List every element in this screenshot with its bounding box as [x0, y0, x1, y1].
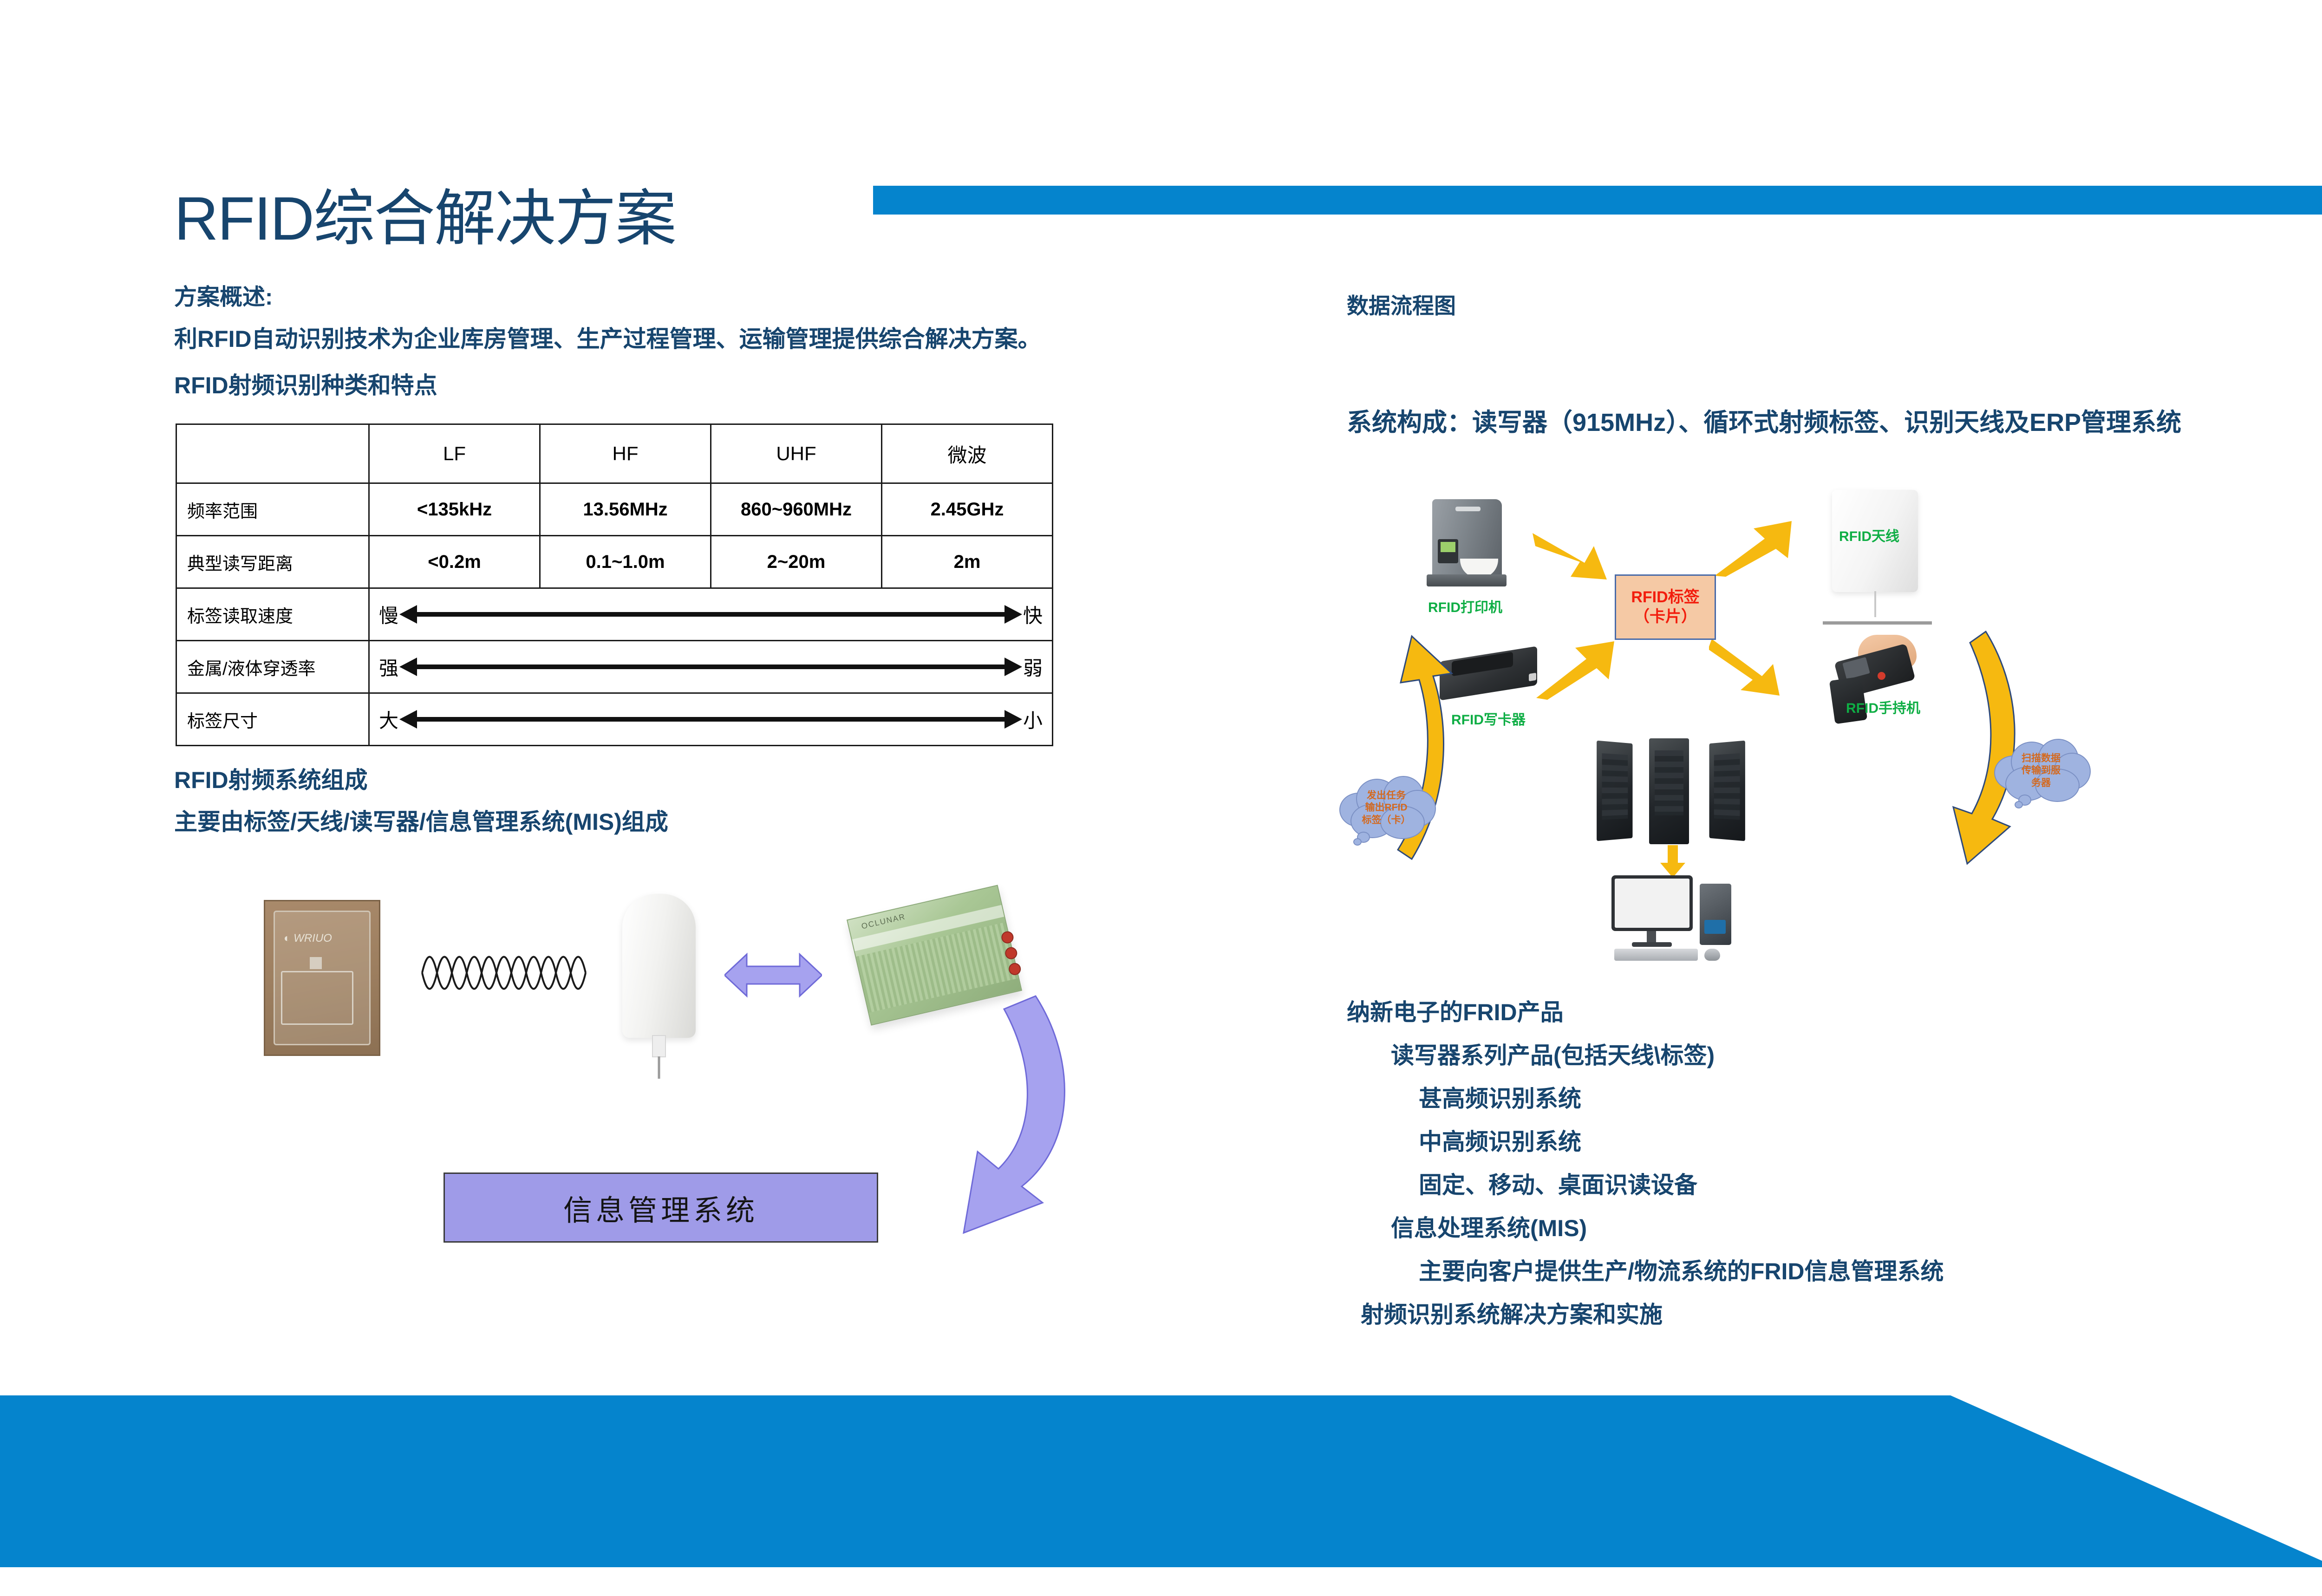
arrow-head-left-icon — [399, 605, 417, 624]
cloud-tail — [2015, 801, 2023, 808]
arrow-head-left-icon — [399, 710, 417, 729]
rfid-tag-box: RFID标签 （卡片） — [1615, 574, 1716, 640]
workstation-photo — [1611, 875, 1741, 961]
system-compose-heading: RFID射频系统组成 — [174, 762, 368, 795]
arrow-line — [415, 717, 1006, 722]
rf-wave-icon — [420, 938, 597, 1008]
monitor — [1611, 875, 1693, 931]
cell-frequency-microwave: 2.45GHz — [882, 483, 1053, 536]
arrow-left-label-tag-size: 大 — [379, 705, 398, 734]
arrow-cell-penetration: 强 弱 — [369, 641, 1053, 693]
printer-screen — [1441, 542, 1455, 552]
server-rack-photo — [1595, 738, 1748, 845]
printer-slot — [1455, 507, 1481, 511]
tag-chip — [310, 957, 322, 969]
keyboard — [1614, 949, 1698, 961]
printer-label: RFID打印机 — [1428, 596, 1502, 616]
panel-antenna-photo — [622, 894, 696, 1038]
arrow-line — [415, 612, 1006, 617]
cell-distance-lf: <0.2m — [369, 536, 540, 588]
row-label-penetration: 金属/液体穿透率 — [176, 641, 369, 693]
mis-box: 信息管理系统 — [444, 1173, 878, 1243]
col-header-hf: HF — [540, 424, 711, 483]
bullet-item: 纳新电子的FRID产品 — [1347, 994, 1564, 1027]
page-title: RFID综合解决方案 — [174, 188, 676, 249]
col-header-lf: LF — [369, 424, 540, 483]
arrow-tag-to-antenna-icon — [1709, 520, 1795, 578]
overview-label: 方案概述: — [174, 279, 273, 312]
antenna-cable — [658, 1056, 660, 1079]
arrow-line — [415, 664, 1006, 669]
col-header-uhf: UHF — [711, 424, 882, 483]
bottom-accent-band — [0, 1395, 2322, 1567]
bullet-item: 信息处理系统(MIS) — [1391, 1210, 1587, 1243]
row-label-distance: 典型读写距离 — [176, 536, 369, 588]
col-header-microwave: 微波 — [882, 424, 1053, 483]
server-rack-left — [1597, 741, 1632, 841]
arrow-right-label-read-speed: 快 — [1023, 600, 1043, 629]
arrow-server-to-pc-icon — [1660, 845, 1685, 878]
cloud-tail — [1353, 838, 1362, 846]
system-composition-text: 系统构成：读写器（915MHz）、循环式射频标签、识别天线及ERP管理系统 — [1347, 402, 2181, 438]
bullet-item: 读写器系列产品(包括天线\标签) — [1391, 1037, 1715, 1070]
arrow-head-right-icon — [1004, 605, 1022, 624]
tag-antenna-coil — [281, 971, 353, 1025]
row-label-frequency: 频率范围 — [176, 483, 369, 536]
arrow-printer-to-tag-icon — [1533, 529, 1618, 583]
table-row: 标签读取速度 慢 快 — [176, 588, 1053, 641]
cloud-callout-right: 扫描数据 传输到服 务器 — [1992, 736, 2090, 806]
slide-canvas: RFID综合解决方案 方案概述: 利RFID自动识别技术为企业库房管理、生产过程… — [0, 0, 2322, 1596]
mouse — [1704, 949, 1720, 961]
table-row: 金属/液体穿透率 强 弱 — [176, 641, 1053, 693]
arrow-up-to-tag-icon — [1533, 638, 1618, 701]
arrow-tag-to-handheld-icon — [1709, 635, 1795, 698]
tag-box-line2: （卡片） — [1634, 607, 1697, 626]
cell-frequency-lf: <135kHz — [369, 483, 540, 536]
arrow-cell-read-speed: 慢 快 — [369, 588, 1053, 641]
table-row: 频率范围 <135kHz 13.56MHz 860~960MHz 2.45GHz — [176, 483, 1053, 536]
monitor-stand — [1647, 931, 1656, 943]
arrow-right-label-tag-size: 小 — [1023, 705, 1043, 734]
arrow-left-label-read-speed: 慢 — [379, 600, 398, 629]
monitor-foot — [1632, 942, 1672, 947]
server-rack-center — [1649, 738, 1689, 844]
arrow-left-label-penetration: 强 — [379, 653, 398, 681]
bidirectional-arrow-icon — [724, 950, 822, 1001]
tag-brand-mark: ◐ WRIUO — [284, 932, 332, 945]
table-row: 标签尺寸 大 小 — [176, 693, 1053, 746]
overview-text: 利RFID自动识别技术为企业库房管理、生产过程管理、运输管理提供综合解决方案。 — [174, 320, 1041, 354]
system-compose-text: 主要由标签/天线/读写器/信息管理系统(MIS)组成 — [174, 803, 668, 837]
bullet-item: 甚高频识别系统 — [1419, 1080, 1581, 1114]
bullet-item: 固定、移动、桌面识读设备 — [1419, 1166, 1697, 1200]
antenna-connector — [652, 1035, 666, 1057]
cloud-right-text: 扫描数据 传输到服 务器 — [1992, 753, 2090, 789]
rfid-tag-photo: ◐ WRIUO — [264, 900, 380, 1056]
bullet-item: 射频识别系统解决方案和实施 — [1361, 1296, 1663, 1329]
antenna-cord — [1874, 591, 1876, 617]
cloud-left-text: 发出任务 输出RFID 标签（卡） — [1337, 790, 1435, 827]
cell-distance-hf: 0.1~1.0m — [540, 536, 711, 588]
row-label-tag-size: 标签尺寸 — [176, 693, 369, 746]
cloud-callout-left: 发出任务 输出RFID 标签（卡） — [1337, 773, 1435, 843]
rfid-printer-photo — [1421, 499, 1512, 592]
antenna-label: RFID天线 — [1839, 525, 1899, 545]
cell-distance-microwave: 2m — [882, 536, 1053, 588]
arrow-cell-tag-size: 大 小 — [369, 693, 1053, 746]
arrow-right-label-penetration: 弱 — [1023, 653, 1043, 681]
top-accent-bar — [873, 186, 2322, 215]
rfid-comparison-table: LF HF UHF 微波 频率范围 <135kHz 13.56MHz 860~9… — [176, 423, 1053, 746]
row-label-read-speed: 标签读取速度 — [176, 588, 369, 641]
types-heading: RFID射频识别种类和特点 — [174, 367, 437, 400]
table-corner-cell — [176, 424, 369, 483]
data-flow-heading: 数据流程图 — [1347, 288, 1456, 320]
arrow-head-left-icon — [399, 658, 417, 676]
cell-distance-uhf: 2~20m — [711, 536, 882, 588]
table-header-row: LF HF UHF 微波 — [176, 424, 1053, 483]
tag-box-line1: RFID标签 — [1631, 588, 1699, 607]
bullet-item: 主要向客户提供生产/物流系统的FRID信息管理系统 — [1419, 1253, 1944, 1286]
arrow-head-right-icon — [1004, 710, 1022, 729]
server-rack-right — [1709, 741, 1745, 841]
bullet-item: 中高频识别系统 — [1419, 1123, 1581, 1157]
pc-tower — [1700, 884, 1731, 945]
arrow-head-right-icon — [1004, 658, 1022, 676]
curved-down-arrow-icon — [882, 991, 1077, 1256]
table-row: 典型读写距离 <0.2m 0.1~1.0m 2~20m 2m — [176, 536, 1053, 588]
printer-base — [1427, 574, 1507, 586]
cell-frequency-hf: 13.56MHz — [540, 483, 711, 536]
cell-frequency-uhf: 860~960MHz — [711, 483, 882, 536]
